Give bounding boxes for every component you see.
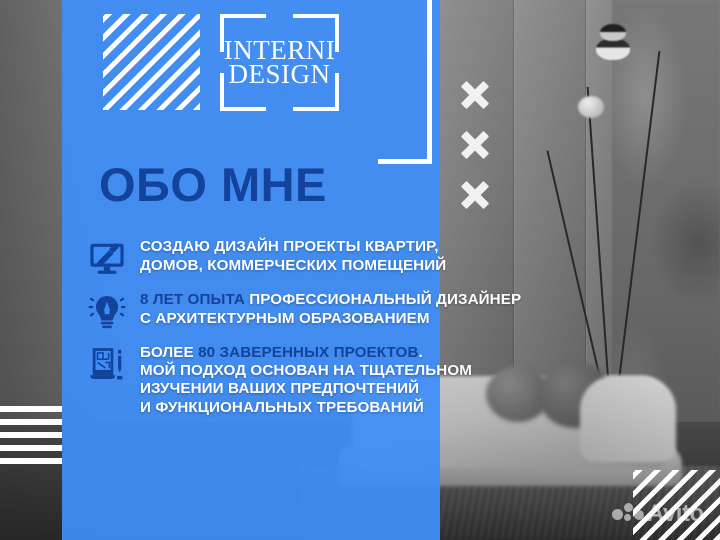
watermark-text: Avito [647,500,704,528]
x-marks-group [460,80,490,230]
lamp-shade [596,38,630,60]
x-cross-icon [460,180,490,210]
text-line: 8 ЛЕТ ОПЫТА ПРОФЕССИОНАЛЬНЫЙ ДИЗАЙНЕР [140,291,521,308]
about-list: СОЗДАЮ ДИЗАЙН ПРОЕКТЫ КВАРТИР, ДОМОВ, КО… [88,238,688,431]
text-line: ИЗУЧЕНИИ ВАШИХ ПРЕДПОЧТЕНИЙ [140,380,419,397]
list-item-text: БОЛЕЕ 80 ЗАВЕРЕННЫХ ПРОЕКТОВ. МОЙ ПОДХОД… [140,344,472,417]
corner-line-horizontal [378,159,432,164]
text-line: ДОМОВ, КОММЕРЧЕСКИХ ПОМЕЩЕНИЙ [140,257,446,274]
list-item-text: 8 ЛЕТ ОПЫТА ПРОФЕССИОНАЛЬНЫЙ ДИЗАЙНЕР С … [140,291,521,328]
text-line: МОЙ ПОДХОД ОСНОВАН НА ТЩАТЕЛЬНОМ [140,362,472,379]
avito-watermark: Avito [612,500,704,528]
diagonal-stripes-icon [103,14,200,110]
list-item: БОЛЕЕ 80 ЗАВЕРЕННЫХ ПРОЕКТОВ. МОЙ ПОДХОД… [88,344,688,417]
text-line: СОЗДАЮ ДИЗАЙН ПРОЕКТЫ КВАРТИР, [140,238,439,255]
promo-card: INTERNI DESIGN ОБО МНЕ [0,0,720,540]
x-cross-icon [460,80,490,110]
page-title: ОБО МНЕ [99,161,327,208]
x-cross-icon [460,130,490,160]
corner-bracket-line [378,0,432,164]
corner-line-vertical [427,0,432,164]
logo-line-2: DESIGN [220,63,339,88]
lightbulb-pencil-icon [88,292,130,330]
logo-wordmark: INTERNI DESIGN [220,38,339,88]
text-line: БОЛЕЕ 80 ЗАВЕРЕННЫХ ПРОЕКТОВ. [140,344,423,361]
blueprint-pencil-icon [88,345,130,383]
text-line: И ФУНКЦИОНАЛЬНЫХ ТРЕБОВАНИЙ [140,399,424,416]
horizontal-stripes-icon [0,399,62,468]
avito-dots-icon [612,503,645,525]
list-item: 8 ЛЕТ ОПЫТА ПРОФЕССИОНАЛЬНЫЙ ДИЗАЙНЕР С … [88,291,688,330]
list-item: СОЗДАЮ ДИЗАЙН ПРОЕКТЫ КВАРТИР, ДОМОВ, КО… [88,238,688,277]
logo-bracket-frame: INTERNI DESIGN [220,14,339,111]
lamp-bulb [578,96,604,118]
text-line: С АРХИТЕКТУРНЫМ ОБРАЗОВАНИЕМ [140,310,430,327]
list-item-text: СОЗДАЮ ДИЗАЙН ПРОЕКТЫ КВАРТИР, ДОМОВ, КО… [140,238,446,275]
monitor-paintbrush-icon [88,239,130,277]
lamp-shade [600,24,626,41]
